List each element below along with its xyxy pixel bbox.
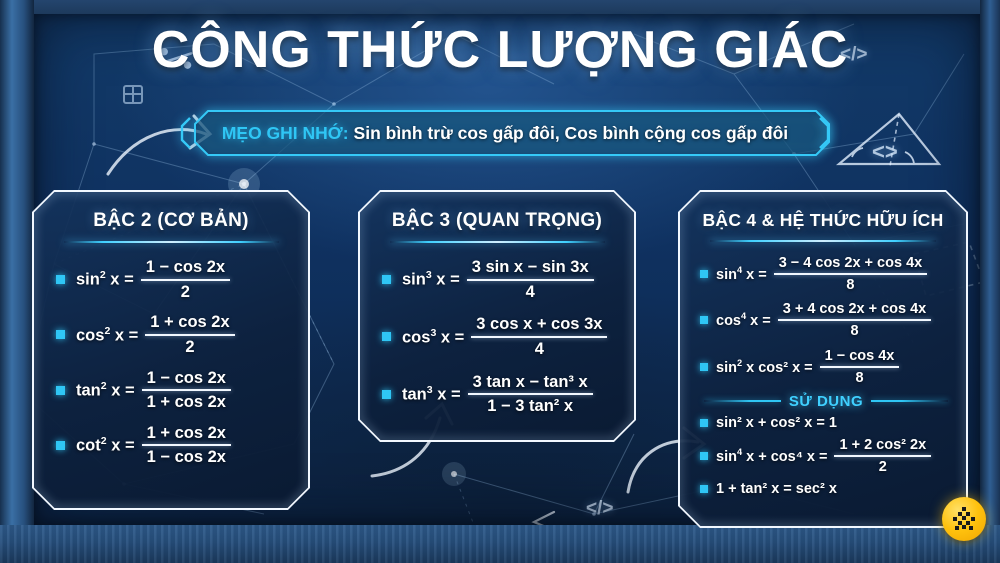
bullet-icon [56, 441, 65, 450]
brand-logo[interactable] [942, 497, 986, 541]
bullet-icon [56, 386, 65, 395]
formula-row: sin2 x = 1 − cos 2x 2 [56, 257, 294, 302]
card-bac-2[interactable]: BẬC 2 (CƠ BẢN) sin2 x = 1 − cos 2x 2 cos… [32, 190, 310, 510]
formula-plain: sin² x + cos² x = 1 [716, 415, 837, 431]
formula-fraction: 3 cos x + cos 3x 4 [471, 314, 607, 359]
formula-lhs: cos4 x = [716, 311, 771, 329]
bullet-icon [382, 390, 391, 399]
banner-key: MẸO GHI NHỚ: [222, 123, 349, 144]
fraction-bar [145, 334, 234, 336]
fraction-bar [774, 273, 928, 275]
formula-lhs: tan2 x = [76, 380, 135, 401]
formula-fraction: 1 + cos 2x 2 [145, 312, 234, 357]
card-bac-2-title: BẬC 2 (CƠ BẢN) [46, 210, 296, 232]
fraction-bar [141, 279, 230, 281]
formula-fraction: 3 sin x − sin 3x 4 [467, 257, 594, 302]
bullet-icon [56, 275, 65, 284]
bullet-icon [700, 485, 708, 493]
bullet-icon [382, 275, 391, 284]
banner-text-row: MẸO GHI NHỚ: Sin bình trừ cos gấp đôi, C… [180, 110, 830, 156]
frame-bottom-edge [0, 525, 1000, 563]
fraction-denominator: 2 [180, 337, 199, 358]
formula-fraction: 3 + 4 cos 2x + cos 4x 8 [778, 300, 932, 340]
fraction-denominator: 8 [850, 369, 868, 387]
card-bac-2-rows: sin2 x = 1 − cos 2x 2 cos2 x = 1 + cos 2… [46, 247, 296, 468]
divider-line-left [704, 400, 781, 402]
page-title: CÔNG THỨC LƯỢNG GIÁC [0, 20, 1000, 80]
formula-fraction: 1 − cos 4x 8 [820, 347, 900, 387]
formula-fraction: 1 + 2 cos² 2x 2 [834, 436, 931, 476]
formula-lhs: sin4 x + cos⁴ x = [716, 447, 827, 465]
bullet-icon [700, 270, 708, 278]
frame-right-edge [980, 0, 1000, 563]
fraction-denominator: 8 [841, 276, 859, 294]
fraction-bar [468, 393, 593, 395]
formula-lhs: cos3 x = [402, 327, 464, 348]
formula-lhs: sin4 x = [716, 265, 767, 283]
fraction-bar [467, 279, 594, 281]
formula-fraction: 3 tan x − tan³ x 1 − 3 tan² x [468, 372, 593, 417]
formula-row: cos2 x = 1 + cos 2x 2 [56, 312, 294, 357]
fraction-numerator: 1 − cos 4x [820, 347, 900, 365]
frame-left-edge [0, 0, 34, 563]
frame-top-edge [0, 0, 1000, 14]
formula-row: sin2 x cos² x = 1 − cos 4x 8 [700, 347, 952, 387]
card-bac-3[interactable]: BẬC 3 (QUAN TRỌNG) sin3 x = 3 sin x − si… [358, 190, 636, 442]
fraction-numerator: 3 tan x − tan³ x [468, 372, 593, 393]
formula-row: sin4 x = 3 − 4 cos 2x + cos 4x 8 [700, 254, 952, 294]
fraction-denominator: 4 [521, 282, 540, 303]
fraction-bar [142, 444, 231, 446]
formula-row: tan3 x = 3 tan x − tan³ x 1 − 3 tan² x [382, 372, 620, 417]
card-bac-4-divider [710, 240, 935, 242]
formula-plain: 1 + tan² x = sec² x [716, 481, 837, 497]
fraction-numerator: 1 − cos 2x [141, 257, 230, 278]
formula-lhs: tan3 x = [402, 384, 461, 405]
formula-row: 1 + tan² x = sec² x [700, 481, 952, 497]
card-bac-4-title: BẬC 4 & HỆ THỨC HỮU ÍCH [692, 210, 954, 231]
bullet-icon [56, 330, 65, 339]
fraction-denominator: 1 − 3 tan² x [482, 396, 578, 417]
fraction-numerator: 1 + cos 2x [145, 312, 234, 333]
code-symbol-icon-2: <> [872, 139, 898, 165]
fraction-bar [778, 319, 932, 321]
formula-row: cos3 x = 3 cos x + cos 3x 4 [382, 314, 620, 359]
formula-row: cos4 x = 3 + 4 cos 2x + cos 4x 8 [700, 300, 952, 340]
bullet-icon [382, 332, 391, 341]
code-symbol-icon-3: </> [586, 498, 613, 520]
formula-lhs: sin2 x = [76, 269, 134, 290]
mnemonic-banner: MẸO GHI NHỚ: Sin bình trừ cos gấp đôi, C… [180, 110, 830, 156]
formula-fraction: 3 − 4 cos 2x + cos 4x 8 [774, 254, 928, 294]
bullet-icon [700, 316, 708, 324]
card-bac-3-divider [390, 241, 605, 243]
card-bac-3-rows: sin3 x = 3 sin x − sin 3x 4 cos3 x = 3 c… [372, 247, 622, 417]
formula-row: sin² x + cos² x = 1 [700, 415, 952, 431]
fraction-bar [820, 366, 900, 368]
fraction-numerator: 3 sin x − sin 3x [467, 257, 594, 278]
formula-row: sin3 x = 3 sin x − sin 3x 4 [382, 257, 620, 302]
fraction-numerator: 3 cos x + cos 3x [471, 314, 607, 335]
subsection-label: SỬ DỤNG [789, 393, 863, 410]
bullet-icon [700, 419, 708, 427]
formula-fraction: 1 − cos 2x 1 + cos 2x [142, 368, 231, 413]
fraction-denominator: 2 [176, 282, 195, 303]
divider-line-right [871, 400, 948, 402]
formula-lhs: cot2 x = [76, 435, 135, 456]
card-bac-2-divider [64, 241, 279, 243]
formula-fraction: 1 + cos 2x 1 − cos 2x [142, 423, 231, 468]
fraction-denominator: 8 [845, 322, 863, 340]
fraction-denominator: 2 [874, 458, 892, 476]
subsection-divider: SỬ DỤNG [704, 393, 948, 410]
fraction-denominator: 4 [530, 339, 549, 360]
formula-fraction: 1 − cos 2x 2 [141, 257, 230, 302]
fraction-bar [471, 336, 607, 338]
formula-lhs: cos2 x = [76, 325, 138, 346]
fraction-bar [834, 455, 931, 457]
card-bac-4-rows: sin4 x = 3 − 4 cos 2x + cos 4x 8 cos4 x … [692, 246, 954, 497]
fraction-bar [142, 389, 231, 391]
card-bac-3-title: BẬC 3 (QUAN TRỌNG) [372, 210, 622, 232]
fraction-denominator: 1 + cos 2x [142, 392, 231, 413]
bullet-icon [700, 363, 708, 371]
bullet-icon [700, 452, 708, 460]
fraction-numerator: 1 + cos 2x [142, 423, 231, 444]
fraction-numerator: 3 + 4 cos 2x + cos 4x [778, 300, 932, 318]
formula-row: cot2 x = 1 + cos 2x 1 − cos 2x [56, 423, 294, 468]
fraction-denominator: 1 − cos 2x [142, 447, 231, 468]
formula-lhs: sin2 x cos² x = [716, 358, 813, 376]
formula-row: sin4 x + cos⁴ x = 1 + 2 cos² 2x 2 [700, 436, 952, 476]
banner-value: Sin bình trừ cos gấp đôi, Cos bình cộng … [354, 123, 789, 144]
fraction-numerator: 3 − 4 cos 2x + cos 4x [774, 254, 928, 272]
card-bac-4[interactable]: BẬC 4 & HỆ THỨC HỮU ÍCH sin4 x = 3 − 4 c… [678, 190, 968, 528]
formula-lhs: sin3 x = [402, 269, 460, 290]
fraction-numerator: 1 − cos 2x [142, 368, 231, 389]
brand-logo-glyph [949, 504, 979, 534]
fraction-numerator: 1 + 2 cos² 2x [834, 436, 931, 454]
formula-row: tan2 x = 1 − cos 2x 1 + cos 2x [56, 368, 294, 413]
